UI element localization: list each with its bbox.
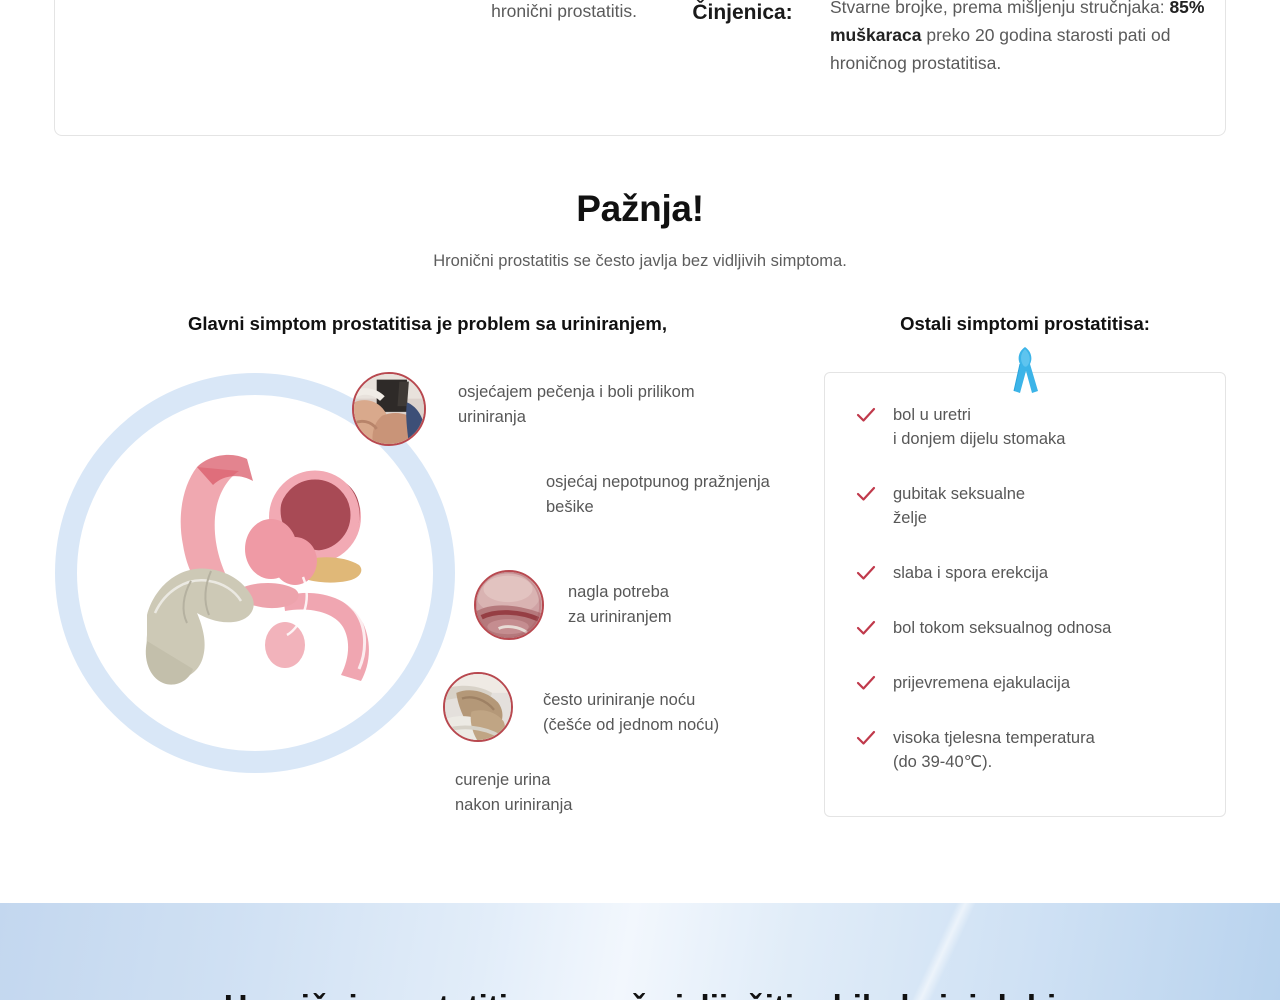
- symptom-label-3-line1: nagla potreba: [568, 580, 818, 605]
- bladder-tissue-photo: [476, 572, 542, 638]
- check-icon: [855, 727, 877, 749]
- fact-left-text: Prema zvaničnim statistikama koje obezbj…: [83, 0, 637, 25]
- symptom-label-4-line1: često uriniranje noću: [543, 688, 823, 713]
- fact-right-text-pre: Stvarne brojke, prema mišljenju stručnja…: [830, 0, 1169, 17]
- prostate-exam-anatomy-illustration: [135, 445, 425, 715]
- fact-right-column: Stvarne brojke, prema mišljenju stručnja…: [830, 0, 1220, 77]
- check-icon: [855, 404, 877, 426]
- blue-awareness-ribbon-icon: [1006, 345, 1044, 395]
- list-item: visoka tjelesna temperatura (do 39-40℃).: [855, 726, 1205, 774]
- other-symptoms-card: bol u uretri i donjem dijelu stomaka gub…: [824, 372, 1226, 817]
- symptom-label-5-line2: nakon uriniranja: [455, 793, 735, 818]
- symptom-label-5: curenje urina nakon uriniranja: [455, 768, 735, 818]
- list-item-line1: bol u uretri: [893, 403, 1205, 427]
- list-item-line1: slaba i spora erekcija: [893, 561, 1205, 585]
- symptom-label-1-line1: osjećajem pečenja i boli prilikom: [458, 380, 748, 405]
- check-icon: [855, 562, 877, 584]
- symptom-label-3: nagla potreba za uriniranjem: [568, 580, 818, 630]
- symptom-label-2: osjećaj nepotpunog pražnjenja bešike: [546, 470, 836, 520]
- list-item-line2: (do 39-40℃).: [893, 750, 1205, 774]
- man-in-bed-photo: [445, 674, 511, 740]
- symptom-thumb-hands-pain: [352, 372, 426, 446]
- symptom-label-3-line2: za uriniranjem: [568, 605, 818, 630]
- bottom-gradient-band: Hronični prostatitis se može izliječiti …: [0, 903, 1280, 1000]
- symptom-thumb-bladder: [474, 570, 544, 640]
- list-item-line1: bol tokom seksualnog odnosa: [893, 616, 1205, 640]
- hands-pain-photo: [354, 374, 424, 444]
- left-column-heading: Glavni simptom prostatitisa je problem s…: [55, 313, 800, 335]
- list-item: slaba i spora erekcija: [855, 561, 1205, 585]
- symptom-label-4: često uriniranje noću (češće od jednom n…: [543, 688, 823, 738]
- symptom-thumb-night-urination: [443, 672, 513, 742]
- check-icon: [855, 617, 877, 639]
- fact-right-text: Stvarne brojke, prema mišljenju stručnja…: [830, 0, 1210, 77]
- check-icon: [855, 672, 877, 694]
- fact-left-text-post: preko 30 godina starosti ima hronični pr…: [412, 0, 637, 21]
- check-icon: [855, 483, 877, 505]
- band-light-streak: [880, 903, 1000, 1000]
- list-item: gubitak seksualne želje: [855, 482, 1205, 530]
- symptom-label-1: osjećajem pečenja i boli prilikom urinir…: [458, 380, 748, 430]
- symptom-label-2-line2: bešike: [546, 495, 836, 520]
- fact-card: Prema zvaničnim statistikama koje obezbj…: [54, 0, 1226, 136]
- other-symptoms-list: bol u uretri i donjem dijelu stomaka gub…: [855, 403, 1205, 774]
- page-root: Prema zvaničnim statistikama koje obezbj…: [0, 0, 1280, 1000]
- symptom-label-4-line2: (češće od jednom noću): [543, 713, 823, 738]
- fact-label: Činjenica:: [692, 1, 792, 24]
- list-item-line2: želje: [893, 506, 1205, 530]
- fact-label-column: Činjenica:: [655, 0, 830, 25]
- list-item-line1: gubitak seksualne: [893, 482, 1205, 506]
- symptom-label-5-line1: curenje urina: [455, 768, 735, 793]
- symptom-label-2-line1: osjećaj nepotpunog pražnjenja: [546, 470, 836, 495]
- right-column-heading: Ostali simptomi prostatitisa:: [824, 313, 1226, 335]
- attention-title: Pažnja!: [0, 188, 1280, 230]
- symptom-label-1-line2: uriniranja: [458, 405, 748, 430]
- list-item-line1: visoka tjelesna temperatura: [893, 726, 1205, 750]
- bottom-band-title: Hronični prostatitis se može izliječiti …: [0, 988, 1280, 1000]
- fact-left-column: Prema zvaničnim statistikama koje obezbj…: [55, 0, 655, 25]
- list-item: bol tokom seksualnog odnosa: [855, 616, 1205, 640]
- list-item: bol u uretri i donjem dijelu stomaka: [855, 403, 1205, 451]
- list-item-line2: i donjem dijelu stomaka: [893, 427, 1205, 451]
- list-item: prijevremena ejakulacija: [855, 671, 1205, 695]
- attention-subtitle: Hronični prostatitis se često javlja bez…: [0, 252, 1280, 271]
- list-item-line1: prijevremena ejakulacija: [893, 671, 1205, 695]
